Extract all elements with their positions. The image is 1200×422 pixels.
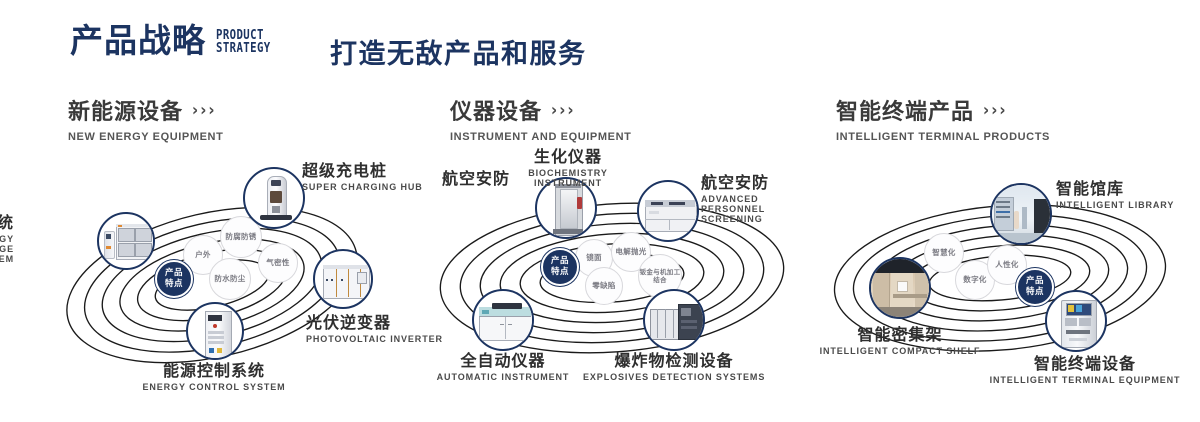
- core-badge-line2-it: 特点: [1026, 287, 1044, 298]
- label-en-intelligent-terminal-equipment: INTELLIGENT TERMINAL EQUIPMENT: [986, 375, 1184, 385]
- label-intelligent-terminal-equipment: 智能终端设备 INTELLIGENT TERMINAL EQUIPMENT: [986, 355, 1184, 385]
- section-title-en-1: INSTRUMENT AND EQUIPMENT: [450, 131, 631, 143]
- section-title-cn-2: 智能终端产品 ›››: [836, 94, 1050, 126]
- photovoltaic-inverter-image: [315, 251, 371, 307]
- label-cn-advanced-personnel-screening: 航空安防: [701, 174, 809, 192]
- label-en-energy-control-system: ENERGY CONTROL SYSTEM: [124, 382, 304, 392]
- core-badge-new-energy: 产品 特点: [155, 260, 193, 298]
- intelligent-terminal-equipment-image: [1047, 292, 1105, 350]
- core-badge-line2-in: 特点: [551, 267, 569, 278]
- chevron-right-icon-1: ›››: [551, 103, 575, 118]
- label-en-intelligent-compact-shelf: INTELLIGENT COMPACT SHELF: [814, 346, 986, 356]
- label-cn-explosives-detection: 爆炸物检测设备: [583, 352, 765, 370]
- section-title-cn-0: 新能源设备 ›››: [68, 94, 223, 126]
- label-en-advanced-personnel-screening: ADVANCED PERSONNEL SCREENING: [701, 194, 809, 224]
- cluster-intelligent: 智慧化 数字化 人性化 产品 特点 智能馆库 INTELLIGE: [800, 150, 1200, 422]
- section-title-text-1: 仪器设备: [450, 94, 542, 126]
- explosives-detection-image: [645, 291, 703, 349]
- node-intelligent-terminal-equipment[interactable]: [1045, 290, 1107, 352]
- advanced-personnel-screening-image: [639, 182, 697, 240]
- page-subtitle: 打造无敌产品和服务: [330, 32, 587, 71]
- energy-storage-system-image: [99, 214, 153, 268]
- label-automatic-instrument: 全自动仪器 AUTOMATIC INSTRUMENT: [412, 352, 594, 382]
- label-en-intelligent-library: INTELLIGENT LIBRARY: [1056, 200, 1174, 210]
- label-advanced-personnel-screening: 航空安防 ADVANCED PERSONNEL SCREENING: [701, 174, 809, 224]
- intelligent-library-image: [992, 185, 1050, 243]
- label-cn-intelligent-terminal-equipment: 智能终端设备: [986, 355, 1184, 373]
- node-automatic-instrument[interactable]: [472, 289, 534, 351]
- label-cn-biochemistry-instrument: 生化仪器: [512, 148, 624, 166]
- section-heading-intelligent: 智能终端产品 ››› INTELLIGENT TERMINAL PRODUCTS: [836, 94, 1050, 143]
- label-biochemistry-instrument: 生化仪器 BIOCHEMISTRY INSTRUMENT: [512, 148, 624, 188]
- label-cn-intelligent-library: 智能馆库: [1056, 180, 1174, 198]
- page-canvas: 产品战略 PRODUCT STRATEGY 打造无敌产品和服务 新能源设备 ››…: [0, 0, 1200, 422]
- node-intelligent-compact-shelf[interactable]: [869, 257, 931, 319]
- label-cn-energy-storage-system: 储能系统: [0, 214, 14, 232]
- core-badge-line1-in: 产品: [551, 256, 569, 267]
- node-super-charging-hub[interactable]: [243, 167, 305, 229]
- label-intelligent-library: 智能馆库 INTELLIGENT LIBRARY: [1056, 180, 1174, 210]
- page-title: 产品战略 PRODUCT STRATEGY: [70, 24, 283, 57]
- label-en-explosives-detection: EXPLOSIVES DETECTION SYSTEMS: [583, 372, 765, 382]
- label-energy-control-system: 能源控制系统 ENERGY CONTROL SYSTEM: [124, 362, 304, 392]
- label-en-automatic-instrument: AUTOMATIC INSTRUMENT: [412, 372, 594, 382]
- section-title-en-2: INTELLIGENT TERMINAL PRODUCTS: [836, 131, 1050, 143]
- label-en-energy-storage-system: ENERGY STORAGE SYSTEM: [0, 234, 14, 264]
- label-cn-automatic-instrument: 全自动仪器: [412, 352, 594, 370]
- core-badge-instrument: 产品 特点: [541, 248, 579, 286]
- chevron-right-icon-2: ›››: [983, 103, 1007, 118]
- cluster-new-energy: 户外 防腐防锈 防水防尘 气密性 产品 特点 储能系统: [0, 150, 420, 422]
- section-title-en-0: NEW ENERGY EQUIPMENT: [68, 131, 223, 143]
- feature-bubble-ne-2: 防水防尘: [209, 258, 251, 300]
- node-intelligent-library[interactable]: [990, 183, 1052, 245]
- intelligent-compact-shelf-image: [871, 259, 929, 317]
- super-charging-hub-image: [245, 169, 303, 227]
- node-photovoltaic-inverter[interactable]: [313, 249, 373, 309]
- energy-control-system-image: [188, 304, 242, 358]
- section-title-text-2: 智能终端产品: [836, 94, 974, 126]
- label-cn-intelligent-compact-shelf: 智能密集架: [814, 326, 986, 344]
- title-chinese: 产品战略: [70, 24, 206, 57]
- label-aviation-security: 航空安防: [400, 170, 510, 188]
- core-badge-line2-ne: 特点: [165, 279, 183, 290]
- core-badge-line1-it: 产品: [1026, 276, 1044, 287]
- label-explosives-detection: 爆炸物检测设备 EXPLOSIVES DETECTION SYSTEMS: [583, 352, 765, 382]
- node-advanced-personnel-screening[interactable]: [637, 180, 699, 242]
- label-en-biochemistry-instrument: BIOCHEMISTRY INSTRUMENT: [512, 168, 624, 188]
- section-heading-instrument: 仪器设备 ››› INSTRUMENT AND EQUIPMENT: [450, 94, 631, 143]
- label-cn-aviation-security: 航空安防: [400, 170, 510, 188]
- core-badge-line1-ne: 产品: [165, 268, 183, 279]
- label-energy-storage-system: 储能系统 ENERGY STORAGE SYSTEM: [0, 214, 14, 264]
- section-heading-new-energy: 新能源设备 ››› NEW ENERGY EQUIPMENT: [68, 94, 223, 143]
- cluster-instrument: 镜面 电解抛光 钣金与机加工结合 零缺陷 产品 特点 生化仪器 BIOCHEMI…: [400, 150, 820, 422]
- feature-bubble-in-3: 零缺陷: [585, 267, 623, 305]
- node-energy-storage-system[interactable]: [97, 212, 155, 270]
- section-title-text-0: 新能源设备: [68, 94, 183, 126]
- label-intelligent-compact-shelf: 智能密集架 INTELLIGENT COMPACT SHELF: [814, 326, 986, 356]
- automatic-instrument-image: [474, 291, 532, 349]
- title-english: PRODUCT STRATEGY: [216, 29, 271, 56]
- title-english-line1: PRODUCT: [216, 29, 271, 42]
- label-cn-energy-control-system: 能源控制系统: [124, 362, 304, 380]
- title-english-line2: STRATEGY: [216, 42, 271, 55]
- section-title-cn-1: 仪器设备 ›››: [450, 94, 631, 126]
- chevron-right-icon-0: ›››: [192, 103, 216, 118]
- feature-bubble-ne-3: 气密性: [258, 243, 298, 283]
- node-explosives-detection[interactable]: [643, 289, 705, 351]
- node-energy-control-system[interactable]: [186, 302, 244, 360]
